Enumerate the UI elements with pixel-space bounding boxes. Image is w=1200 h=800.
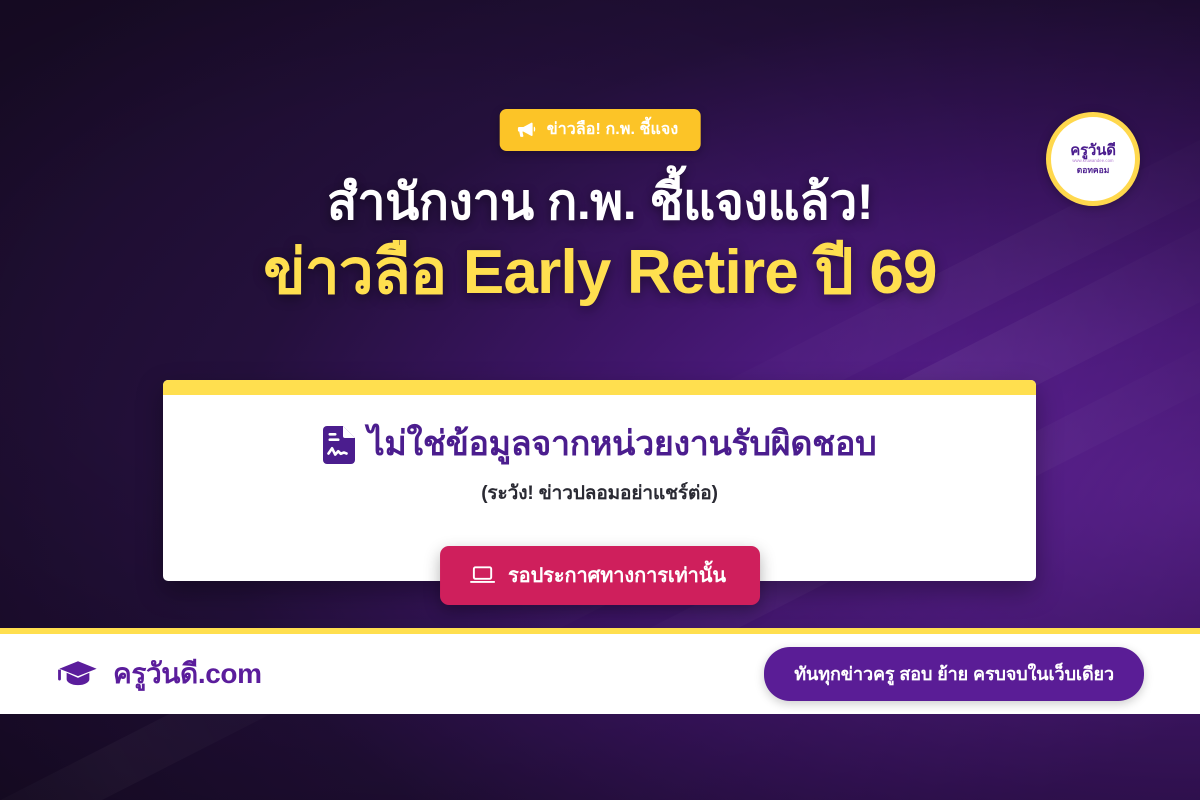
brand-name: ครูวันดี.com (113, 652, 262, 696)
logo-badge-main-text: ครูวันดี (1070, 143, 1116, 159)
headline-block: สำนักงาน ก.พ. ชี้แจงแล้ว! ข่าวลือ Early … (0, 176, 1200, 306)
laptop-icon (470, 565, 495, 585)
document-waveform-icon (323, 426, 355, 464)
headline-line-2: ข่าวลือ Early Retire ปี 69 (0, 240, 1200, 306)
logo-badge-sub-text: ดอทคอม (1077, 166, 1110, 175)
brand-logo[interactable]: ครูวันดี.com (58, 652, 262, 696)
card-heading-text: ไม่ใช่ข้อมูลจากหน่วยงานรับผิดชอบ (368, 425, 877, 464)
card-accent-bar (163, 380, 1036, 395)
cta-label: รอประกาศทางการเท่านั้น (508, 559, 726, 591)
megaphone-icon (518, 121, 538, 139)
rumor-badge-label: ข่าวลือ! ก.พ. ชี้แจง (547, 117, 679, 142)
graduation-cap-icon (58, 659, 98, 689)
card-heading-row: ไม่ใช่ข้อมูลจากหน่วยงานรับผิดชอบ (193, 425, 1006, 464)
card-warning-text: (ระวัง! ข่าวปลอมอย่าแชร์ต่อ) (193, 478, 1006, 508)
footer-bar: ครูวันดี.com ทันทุกข่าวครู สอบ ย้าย ครบจ… (0, 628, 1200, 714)
headline-line-1: สำนักงาน ก.พ. ชี้แจงแล้ว! (0, 176, 1200, 228)
wait-official-announcement-button[interactable]: รอประกาศทางการเท่านั้น (440, 546, 760, 605)
logo-badge-url: www.kruwandee.com (1072, 159, 1113, 164)
tagline-pill: ทันทุกข่าวครู สอบ ย้าย ครบจบในเว็บเดียว (764, 647, 1144, 701)
rumor-badge: ข่าวลือ! ก.พ. ชี้แจง (500, 109, 701, 151)
